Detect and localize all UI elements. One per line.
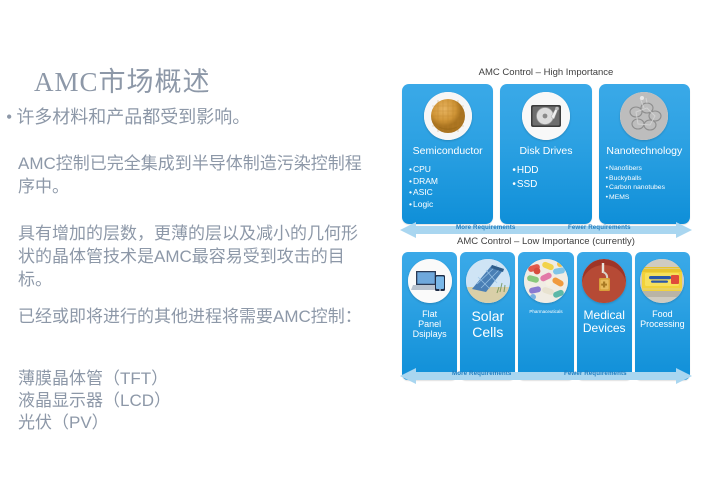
low-importance-title: AMC Control – Low Importance (currently) [396,236,696,247]
bullet-text: Buckyballs [609,175,642,182]
bullet-marker-icon: • [512,165,516,176]
paragraph-1: AMC控制已完全集成到半导体制造污染控制程序中。 [18,152,370,198]
list-item: 光伏（PV） [18,412,370,434]
bullet-item: •ASIC [409,187,490,199]
amc-control-diagram: AMC Control – High Importance [396,58,696,388]
nanotube-icon [620,92,668,140]
card-bullet-list: •HDD •SSD [512,164,588,192]
bullet-marker-icon: • [409,176,412,186]
card-flat-panel-displays[interactable]: FlatPanelDsiplays [402,252,457,380]
medical-tag-icon [582,259,626,303]
bullet-item: •MEMS [606,193,687,203]
bullet-marker-icon: • [409,164,412,174]
silicon-wafer-icon [424,92,472,140]
lead-bullet: •许多材料和产品都受到影响。 [6,103,386,129]
page-title: AMC市场概述 [34,60,211,99]
high-importance-card-row: Semiconductor •CPU •DRAM •ASIC •Logic [402,84,690,224]
list-item: 液晶显示器（LCD） [18,390,370,412]
high-importance-title: AMC Control – High Importance [396,67,696,78]
slide-text-column: AMC市场概述 •许多材料和产品都受到影响。 AMC控制已完全集成到半导体制造污… [0,0,392,496]
low-importance-card-row: FlatPanelDsiplays S [402,252,690,380]
bullet-marker-icon: • [409,199,412,209]
bullet-item: •SSD [512,178,588,192]
card-bullet-list: •Nanofibers •Buckyballs •Carbon nanotube… [606,164,687,202]
bullet-marker-icon: • [606,184,608,191]
bullet-item: •DRAM [409,176,490,188]
requirements-arrow-low: More Requirements Fewer Requirements [400,366,692,386]
bullet-marker-icon: • [606,194,608,201]
bullet-item: •HDD [512,164,588,178]
card-label: Pharmaceuticals [518,309,573,314]
card-label: FoodProcessing [635,309,690,329]
bullet-text: CPU [413,164,431,174]
card-label: SolarCells [460,309,515,340]
card-label: MedicalDevices [577,309,632,336]
lead-bullet-text: 许多材料和产品都受到影响。 [16,107,250,127]
bullet-item: •CPU [409,164,490,176]
solar-panel-icon [466,259,510,303]
bullet-marker-icon: • [606,175,608,182]
card-nanotechnology[interactable]: Nanotechnology •Nanofibers •Buckyballs •… [599,84,690,224]
card-pharmaceuticals[interactable]: Pharmaceuticals [518,252,573,380]
arrow-more-label: More Requirements [452,370,511,377]
bullet-marker-icon: • [6,107,12,128]
bullet-item: •Carbon nanotubes [606,183,687,193]
arrow-fewer-label: Fewer Requirements [568,224,631,231]
paragraph-2: 具有增加的层数，更薄的层以及减小的几何形状的晶体管技术是AMC最容易受到攻击的目… [18,222,370,291]
paragraph-3: 已经或即将进行的其他进程将需要AMC控制： [18,305,370,328]
card-label: FlatPanelDsiplays [402,309,457,339]
laptop-tablet-icon [408,259,452,303]
bullet-text: Carbon nanotubes [609,184,665,191]
arrow-more-label: More Requirements [456,224,515,231]
card-semiconductor[interactable]: Semiconductor •CPU •DRAM •ASIC •Logic [402,84,493,224]
bullet-marker-icon: • [606,165,608,172]
bullet-marker-icon: • [512,179,516,190]
bullet-text: Nanofibers [609,165,642,172]
card-disk-drives[interactable]: Disk Drives •HDD •SSD [500,84,591,224]
bullet-item: •Buckyballs [606,174,687,184]
pills-icon [524,259,568,303]
bullet-text: DRAM [413,176,438,186]
bullet-text: ASIC [413,187,433,197]
bullet-item: •Nanofibers [606,164,687,174]
bullet-text: MEMS [609,194,629,201]
card-label: Disk Drives [500,146,591,158]
card-medical-devices[interactable]: MedicalDevices [577,252,632,380]
arrow-fewer-label: Fewer Requirements [564,370,627,377]
bullet-item: •Logic [409,199,490,211]
bullet-text: Logic [413,199,433,209]
food-package-icon [640,259,684,303]
process-list: 薄膜晶体管（TFT） 液晶显示器（LCD） 光伏（PV） [18,368,370,434]
list-item: 薄膜晶体管（TFT） [18,368,370,390]
card-label: Semiconductor [402,146,493,158]
bullet-text: SSD [517,179,538,190]
hard-disk-icon [522,92,570,140]
bullet-text: HDD [517,165,539,176]
card-bullet-list: •CPU •DRAM •ASIC •Logic [409,164,490,210]
card-food-processing[interactable]: FoodProcessing [635,252,690,380]
card-solar-cells[interactable]: SolarCells [460,252,515,380]
bullet-marker-icon: • [409,187,412,197]
card-label: Nanotechnology [599,146,690,158]
